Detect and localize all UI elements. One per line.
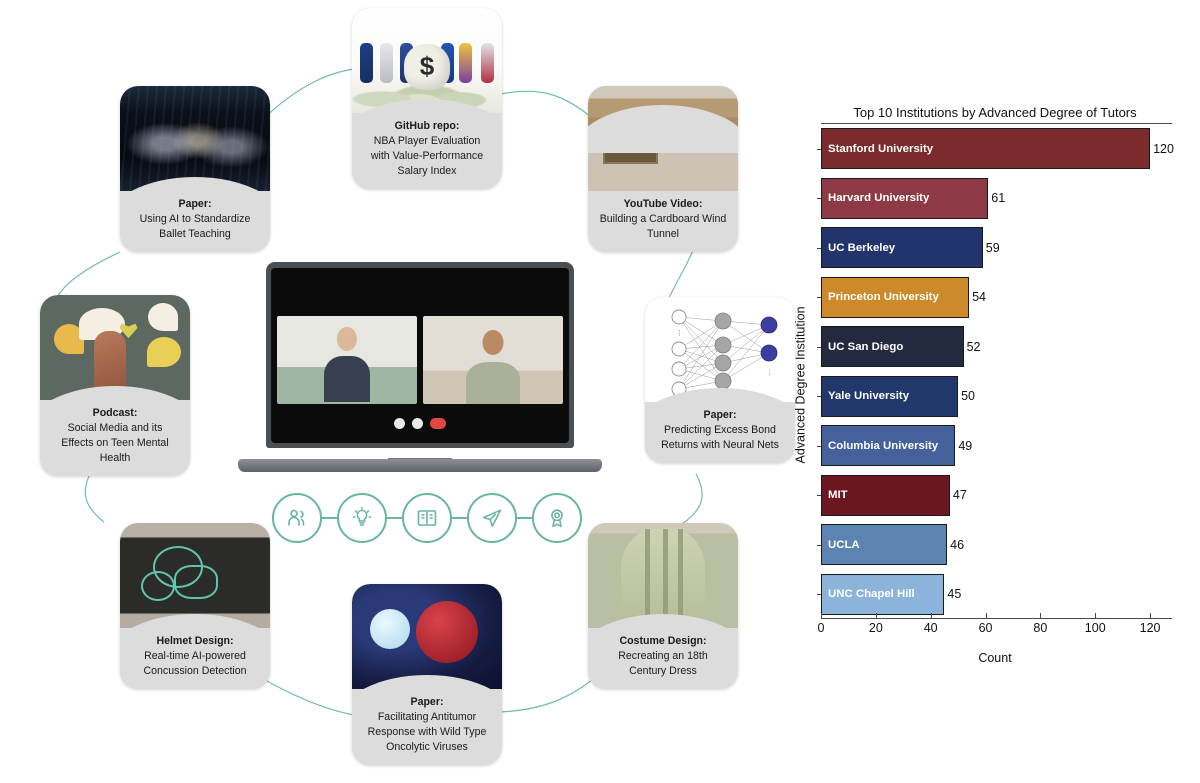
chart-plot-area: Stanford University120Harvard University… (821, 123, 1172, 619)
bar-category-label: Yale University (822, 390, 909, 402)
chart-bar-row: UC San Diego52 (821, 326, 1172, 367)
x-tick-mark (821, 613, 822, 618)
card-kind: YouTube Video: (595, 197, 731, 212)
strip-connector (387, 517, 402, 519)
chart-bar[interactable]: Yale University (821, 376, 958, 417)
chart-bar[interactable]: Harvard University (821, 178, 988, 219)
chart-bar-row: Yale University50 (821, 376, 1172, 417)
strip-connector (517, 517, 532, 519)
card-line: Ballet Teaching (159, 228, 231, 240)
camera-button[interactable] (412, 418, 423, 429)
x-tick-label: 100 (1085, 621, 1106, 635)
participant-left[interactable] (277, 316, 417, 404)
institutions-bar-chart: Top 10 Institutions by Advanced Degree o… (790, 105, 1180, 665)
x-tick-mark (986, 613, 987, 618)
card-line: Social Media and its (68, 422, 163, 434)
social-media-illustration (40, 295, 190, 400)
card-line: Using AI to Standardize (140, 213, 251, 225)
card-caption: YouTube Video: Building a Cardboard Wind… (588, 191, 738, 252)
svg-text:⋮: ⋮ (720, 392, 727, 399)
nnet-svg: ⋮⋮⋮ (645, 297, 795, 402)
card-line: Salary Index (398, 165, 457, 177)
chart-bar-row: Harvard University61 (821, 178, 1172, 219)
card-wind-tunnel[interactable]: YouTube Video: Building a Cardboard Wind… (588, 86, 738, 252)
chart-bar-row: UC Berkeley59 (821, 227, 1172, 268)
bar-category-label: UCLA (822, 539, 860, 551)
chart-bar[interactable]: MIT (821, 475, 950, 516)
helmet-interior-photo (120, 523, 270, 628)
card-caption: Paper: Facilitating Antitumor Response w… (352, 689, 502, 765)
neural-network-diagram: ⋮⋮⋮ (645, 297, 795, 402)
card-line: with Value-Performance (371, 150, 483, 162)
chart-bar-row: Columbia University49 (821, 425, 1172, 466)
bar-category-label: UNC Chapel Hill (822, 588, 915, 600)
strip-connector (452, 517, 467, 519)
card-line: Recreating an 18th (618, 650, 708, 662)
video-tiles (277, 316, 563, 404)
chart-bar-row: Princeton University54 (821, 277, 1172, 318)
card-oncolytic[interactable]: Paper: Facilitating Antitumor Response w… (352, 584, 502, 765)
card-line: Health (100, 452, 131, 464)
x-tick-mark (1150, 613, 1151, 618)
card-kind: Paper: (359, 695, 495, 710)
bar-value-label: 46 (947, 538, 964, 552)
chart-bar[interactable]: Princeton University (821, 277, 969, 318)
bar-value-label: 54 (969, 290, 986, 304)
mic-button[interactable] (394, 418, 405, 429)
bar-value-label: 59 (983, 241, 1000, 255)
open-book-icon[interactable] (402, 493, 452, 543)
x-tick-label: 80 (1033, 621, 1047, 635)
x-tick-label: 120 (1140, 621, 1161, 635)
x-tick-mark (931, 613, 932, 618)
process-icon-strip (272, 492, 582, 544)
bar-category-label: Princeton University (822, 291, 939, 303)
x-tick-label: 40 (924, 621, 938, 635)
bar-category-label: UC San Diego (822, 341, 903, 353)
chart-y-axis-label: Advanced Degree Institution (794, 306, 808, 463)
people-icon[interactable] (272, 493, 322, 543)
chart-bar-row: MIT47 (821, 475, 1172, 516)
chart-bars: Stanford University120Harvard University… (821, 124, 1172, 619)
x-tick-mark (1095, 613, 1096, 618)
card-bond-nnet[interactable]: ⋮⋮⋮ Paper: Predicting Excess Bond Return… (645, 297, 795, 463)
card-kind: Costume Design: (595, 634, 731, 649)
chart-bar-row: Stanford University120 (821, 128, 1172, 169)
nba-players-money-photo (352, 8, 502, 113)
bar-value-label: 49 (955, 439, 972, 453)
card-kind: GitHub repo: (359, 119, 495, 134)
bar-category-label: UC Berkeley (822, 242, 895, 254)
card-line: Concussion Detection (143, 665, 246, 677)
chart-bar[interactable]: Columbia University (821, 425, 955, 466)
award-ribbon-icon[interactable] (532, 493, 582, 543)
card-line: Building a Cardboard Wind (600, 213, 727, 225)
chart-bar-row: UCLA46 (821, 524, 1172, 565)
bar-category-label: Columbia University (822, 440, 938, 452)
bar-value-label: 52 (964, 340, 981, 354)
bar-value-label: 47 (950, 488, 967, 502)
chart-x-ticks: 020406080100120 (821, 621, 1172, 639)
card-kind: Podcast: (47, 406, 183, 421)
card-caption: Paper: Using AI to Standardize Ballet Te… (120, 191, 270, 252)
card-line: Tunnel (647, 228, 679, 240)
svg-text:⋮: ⋮ (766, 370, 773, 377)
x-tick-mark (1040, 613, 1041, 618)
card-kind: Paper: (127, 197, 263, 212)
x-tick-mark (876, 613, 877, 618)
card-kind: Paper: (652, 408, 788, 423)
ballet-stage-photo (120, 86, 270, 191)
bar-category-label: MIT (822, 489, 848, 501)
chart-bar-row: UNC Chapel Hill45 (821, 574, 1172, 615)
card-line: Century Dress (629, 665, 697, 677)
paper-plane-icon[interactable] (467, 493, 517, 543)
bar-value-label: 61 (988, 191, 1005, 205)
card-kind: Helmet Design: (127, 634, 263, 649)
laptop-base (238, 459, 602, 472)
card-ballet[interactable]: Paper: Using AI to Standardize Ballet Te… (120, 86, 270, 252)
card-line: Facilitating Antitumor (378, 711, 476, 723)
chart-bar[interactable]: UC San Diego (821, 326, 964, 367)
card-line: Effects on Teen Mental (61, 437, 168, 449)
lightbulb-icon[interactable] (337, 493, 387, 543)
card-caption: Costume Design: Recreating an 18th Centu… (588, 628, 738, 689)
x-tick-label: 0 (818, 621, 825, 635)
svg-text:⋮: ⋮ (676, 330, 683, 337)
call-controls (271, 418, 569, 429)
video-call-laptop (238, 262, 602, 472)
card-line: Real-time AI-powered (144, 650, 246, 662)
period-dress-photo (588, 523, 738, 628)
laptop-lid (266, 262, 574, 448)
card-line: NBA Player Evaluation (374, 135, 481, 147)
card-caption: Podcast: Social Media and its Effects on… (40, 400, 190, 476)
bar-category-label: Stanford University (822, 143, 933, 155)
end-call-button[interactable] (430, 418, 446, 429)
chart-bar[interactable]: Stanford University (821, 128, 1150, 169)
chart-bar[interactable]: UC Berkeley (821, 227, 983, 268)
card-nba[interactable]: GitHub repo: NBA Player Evaluation with … (352, 8, 502, 189)
cardboard-wind-tunnel-photo (588, 86, 738, 191)
laptop-screen (271, 268, 569, 443)
card-line: Response with Wild Type (368, 726, 487, 738)
chart-x-axis (821, 618, 1172, 619)
chart-bar[interactable]: UNC Chapel Hill (821, 574, 944, 615)
card-line: Returns with Neural Nets (661, 439, 779, 451)
x-tick-label: 60 (979, 621, 993, 635)
bar-value-label: 120 (1150, 142, 1174, 156)
card-line: Oncolytic Viruses (386, 741, 468, 753)
chart-x-axis-label: Count (820, 651, 1170, 665)
card-costume[interactable]: Costume Design: Recreating an 18th Centu… (588, 523, 738, 689)
bar-value-label: 45 (944, 587, 961, 601)
card-helmet[interactable]: Helmet Design: Real-time AI-powered Conc… (120, 523, 270, 689)
bar-category-label: Harvard University (822, 192, 929, 204)
chart-title: Top 10 Institutions by Advanced Degree o… (818, 105, 1172, 120)
chart-bar[interactable]: UCLA (821, 524, 947, 565)
card-caption: GitHub repo: NBA Player Evaluation with … (352, 113, 502, 189)
participant-right[interactable] (423, 316, 563, 404)
card-caption: Paper: Predicting Excess Bond Returns wi… (645, 402, 795, 463)
strip-connector (322, 517, 337, 519)
card-line: Predicting Excess Bond (664, 424, 776, 436)
card-caption: Helmet Design: Real-time AI-powered Conc… (120, 628, 270, 689)
x-tick-label: 20 (869, 621, 883, 635)
card-podcast[interactable]: Podcast: Social Media and its Effects on… (40, 295, 190, 476)
bar-value-label: 50 (958, 389, 975, 403)
virus-tumor-cell-render (352, 584, 502, 689)
